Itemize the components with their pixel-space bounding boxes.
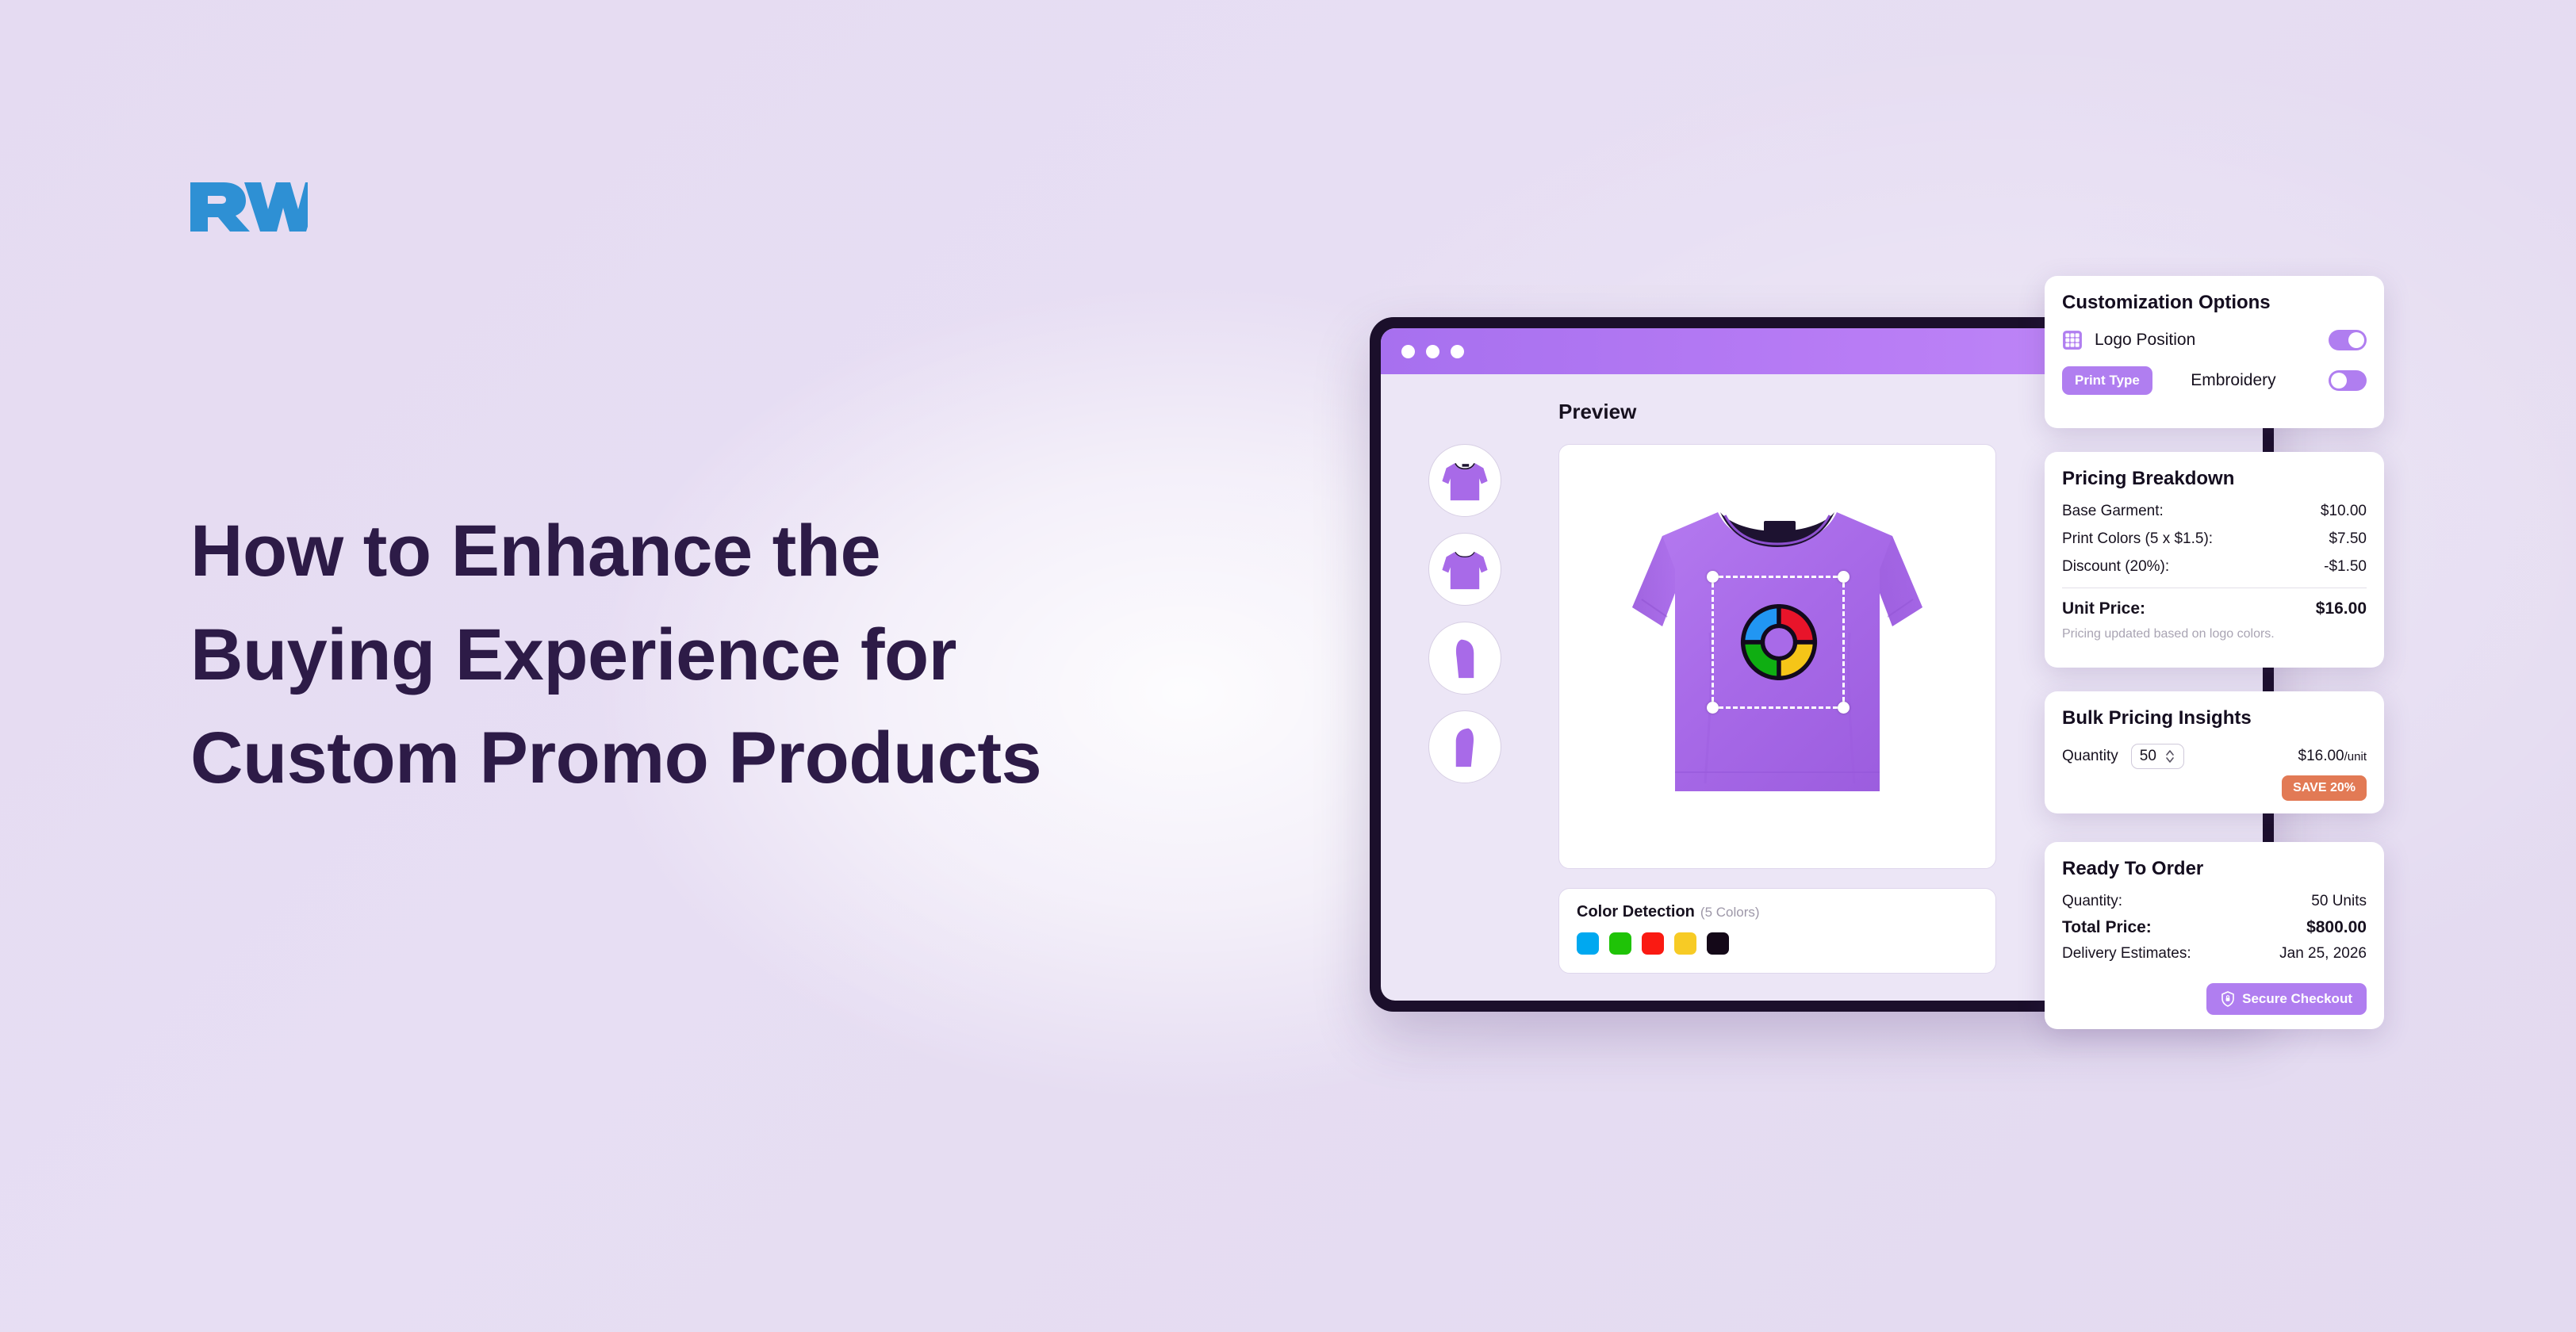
order-row-label: Quantity: (2062, 893, 2122, 910)
resize-handle-bottom-left[interactable] (1707, 702, 1719, 714)
order-total-row: Total Price: $800.00 (2062, 918, 2367, 937)
thumbnail-back-view[interactable] (1428, 533, 1501, 606)
secure-checkout-button[interactable]: Secure Checkout (2206, 983, 2367, 1015)
embroidery-toggle[interactable] (2329, 370, 2367, 391)
secure-checkout-label: Secure Checkout (2242, 991, 2352, 1007)
color-swatch-blue[interactable] (1577, 932, 1599, 955)
color-detection-title: Color Detection (1577, 903, 1695, 921)
color-swatch-list (1577, 932, 1978, 955)
pricing-row-label: Discount (20%): (2062, 558, 2169, 576)
order-row-label: Total Price: (2062, 918, 2152, 937)
bulk-quantity-label: Quantity (2062, 748, 2118, 765)
color-swatch-yellow[interactable] (1674, 932, 1696, 955)
thumbnail-left-sleeve-view[interactable] (1428, 622, 1501, 695)
sweatshirt-right-sleeve-icon (1434, 716, 1496, 778)
pricing-breakdown-card: Pricing Breakdown Base Garment: $10.00 P… (2045, 452, 2384, 668)
customization-options-card: Customization Options Logo Position Prin… (2045, 276, 2384, 428)
color-swatch-black[interactable] (1707, 932, 1729, 955)
print-type-button[interactable]: Print Type (2062, 366, 2152, 395)
page-title: How to Enhance the Buying Experience for… (190, 499, 1317, 810)
color-swatch-red[interactable] (1642, 932, 1664, 955)
embroidery-label: Embroidery (2191, 371, 2275, 390)
order-row-label: Delivery Estimates: (2062, 945, 2191, 963)
bulk-quantity-row: Quantity 50 $16.00/unit (2062, 744, 2367, 769)
window-minimize-dot-icon[interactable] (1426, 345, 1439, 358)
customization-options-title: Customization Options (2062, 292, 2367, 314)
pricing-note: Pricing updated based on logo colors. (2062, 627, 2367, 641)
unit-price-value: $16.00 (2316, 599, 2367, 618)
rw-logo-icon (189, 176, 308, 232)
bulk-pricing-card: Bulk Pricing Insights Quantity 50 $16.00… (2045, 691, 2384, 813)
headline-line-1: How to Enhance the (190, 499, 1317, 603)
pricing-divider (2062, 588, 2367, 588)
resize-handle-top-right[interactable] (1838, 571, 1850, 583)
pricing-row: Base Garment: $10.00 (2062, 503, 2367, 520)
thumbnail-rail (1428, 444, 1501, 783)
sweatshirt-front-icon (1434, 450, 1496, 511)
pricing-row-value: $7.50 (2329, 530, 2367, 548)
brand-logo[interactable] (189, 176, 308, 232)
logo-position-row: Logo Position (2062, 330, 2367, 350)
save-badge: SAVE 20% (2282, 775, 2367, 801)
order-row: Delivery Estimates: Jan 25, 2026 (2062, 945, 2367, 963)
bulk-pricing-title: Bulk Pricing Insights (2062, 707, 2367, 729)
pricing-breakdown-title: Pricing Breakdown (2062, 468, 2367, 490)
resize-handle-top-left[interactable] (1707, 571, 1719, 583)
pricing-row-value: -$1.50 (2324, 558, 2367, 576)
toggle-knob (2348, 332, 2364, 348)
bulk-unit-price-suffix: /unit (2344, 750, 2367, 764)
window-maximize-dot-icon[interactable] (1451, 345, 1464, 358)
unit-price-row: Unit Price: $16.00 (2062, 599, 2367, 618)
logo-position-label: Logo Position (2095, 331, 2195, 350)
toggle-knob (2331, 373, 2347, 388)
garment-render[interactable] (1607, 474, 1948, 839)
thumbnail-right-sleeve-view[interactable] (1428, 710, 1501, 783)
quantity-value: 50 (2140, 748, 2156, 765)
thumbnail-front-view[interactable] (1428, 444, 1501, 517)
logo-position-toggle[interactable] (2329, 330, 2367, 350)
pricing-row-label: Print Colors (5 x $1.5): (2062, 530, 2213, 548)
pricing-row-value: $10.00 (2321, 503, 2367, 520)
preview-heading: Preview (1558, 400, 1636, 424)
color-swatch-green[interactable] (1609, 932, 1631, 955)
order-row-value: 50 Units (2311, 893, 2367, 910)
sweatshirt-back-icon (1434, 538, 1496, 600)
shield-lock-icon (2221, 991, 2235, 1007)
headline-line-3: Custom Promo Products (190, 706, 1317, 810)
ready-to-order-card: Ready To Order Quantity: 50 Units Total … (2045, 842, 2384, 1029)
order-row-value: $800.00 (2306, 918, 2367, 937)
chevron-updown-icon[interactable] (2164, 748, 2175, 764)
headline-line-2: Buying Experience for (190, 603, 1317, 707)
print-type-row: Print Type Embroidery (2062, 366, 2367, 395)
order-row-value: Jan 25, 2026 (2279, 945, 2367, 963)
pricing-row: Print Colors (5 x $1.5): $7.50 (2062, 530, 2367, 548)
bulk-unit-price-value: $16.00 (2298, 748, 2344, 764)
resize-handle-bottom-right[interactable] (1838, 702, 1850, 714)
sweatshirt-left-sleeve-icon (1434, 627, 1496, 689)
bulk-unit-price: $16.00/unit (2298, 748, 2367, 765)
pricing-row: Discount (20%): -$1.50 (2062, 558, 2367, 576)
color-detection-count: (5 Colors) (1700, 905, 1760, 920)
unit-price-label: Unit Price: (2062, 599, 2145, 618)
quantity-stepper[interactable]: 50 (2131, 744, 2184, 769)
color-wheel-logo-icon[interactable] (1736, 599, 1822, 685)
pricing-row-label: Base Garment: (2062, 503, 2164, 520)
grid-icon (2062, 330, 2083, 350)
window-close-dot-icon[interactable] (1401, 345, 1415, 358)
order-row: Quantity: 50 Units (2062, 893, 2367, 910)
color-detection-card: Color Detection(5 Colors) (1558, 888, 1996, 974)
ready-to-order-title: Ready To Order (2062, 858, 2367, 880)
preview-stage (1558, 444, 1996, 869)
